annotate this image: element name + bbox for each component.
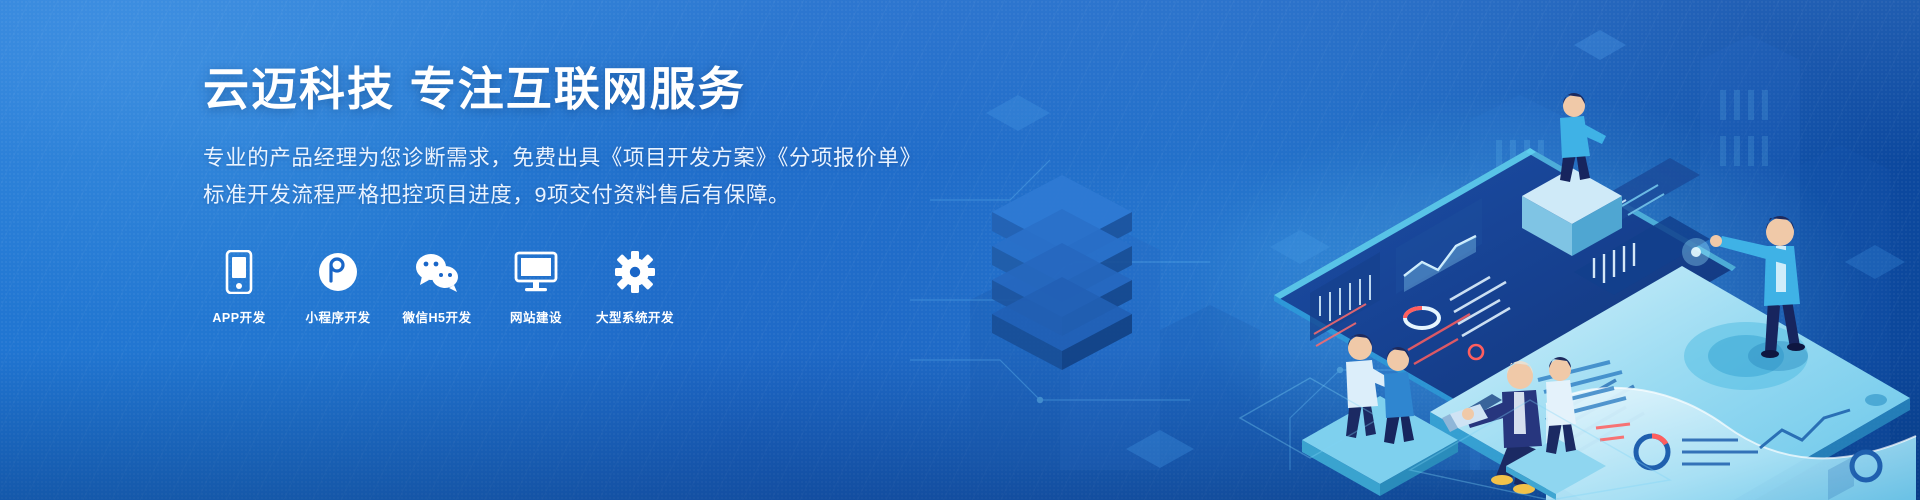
gear-icon (614, 250, 656, 294)
monitor-icon (514, 250, 558, 294)
smartphone-icon (224, 250, 254, 294)
service-label: 微信H5开发 (403, 307, 472, 326)
service-item-mini-program[interactable]: 小程序开发 (302, 250, 374, 326)
service-label: 小程序开发 (305, 307, 370, 326)
hero-banner: 云迈科技 专注互联网服务 专业的产品经理为您诊断需求，免费出具《项目开发方案》《… (0, 0, 1920, 500)
service-label: 大型系统开发 (596, 307, 674, 326)
server-stack (992, 175, 1132, 370)
service-item-website[interactable]: 网站建设 (500, 250, 572, 326)
service-label: 网站建设 (510, 307, 562, 326)
hero-content: 云迈科技 专注互联网服务 专业的产品经理为您诊断需求，免费出具《项目开发方案》《… (203, 62, 903, 326)
service-list: APP开发 小程序开发 (203, 250, 903, 326)
hero-illustration (910, 0, 1920, 500)
phone-home-button (1865, 394, 1887, 406)
subtitle-line-1: 专业的产品经理为您诊断需求，免费出具《项目开发方案》《分项报价单》 (203, 140, 903, 177)
mini-program-icon (318, 250, 358, 294)
service-label: APP开发 (212, 307, 265, 326)
page-title: 云迈科技 专注互联网服务 (203, 62, 903, 116)
service-item-large-system[interactable]: 大型系统开发 (599, 250, 671, 326)
wechat-icon (414, 250, 460, 294)
service-item-app[interactable]: APP开发 (203, 250, 275, 326)
service-item-wechat[interactable]: 微信H5开发 (401, 250, 473, 326)
subtitle-line-2: 标准开发流程严格把控项目进度，9项交付资料售后有保障。 (203, 177, 903, 214)
hero-subtitle: 专业的产品经理为您诊断需求，免费出具《项目开发方案》《分项报价单》 标准开发流程… (203, 140, 903, 214)
